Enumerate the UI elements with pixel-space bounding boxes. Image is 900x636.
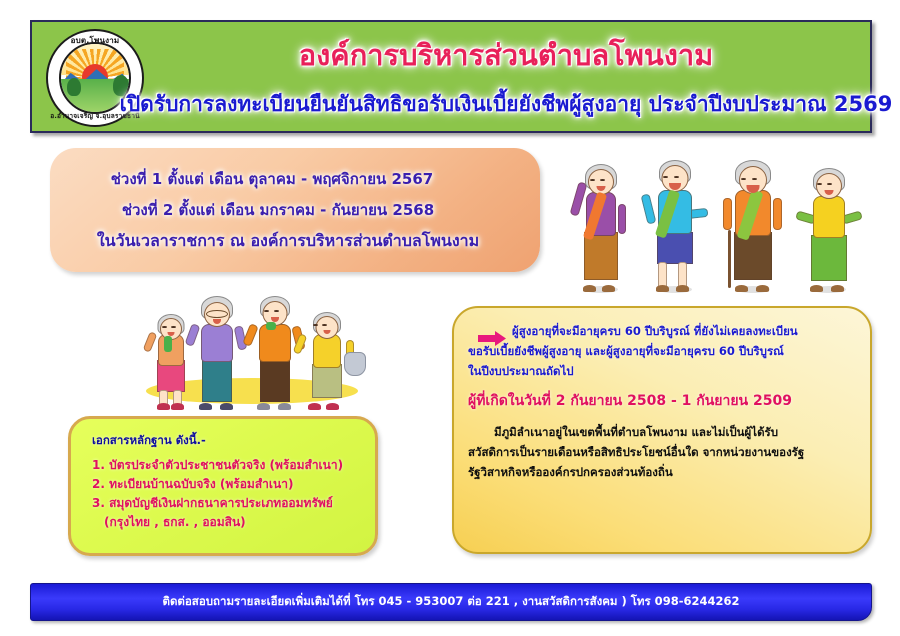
four-elderly-people-waving-illustration [134, 282, 370, 408]
figure-head [316, 316, 339, 339]
header-title-group: องค์การบริหารส่วนตำบลโพนงาม เปิดรับการลง… [152, 22, 860, 131]
figure-body [259, 324, 291, 362]
eligibility-line: มีภูมิลำเนาอยู่ในเขตพื้นที่ตำบลโพนงาม แล… [468, 422, 857, 442]
figure-shoe [831, 285, 844, 292]
figure-eye [274, 310, 279, 312]
contact-footer-text: ติดต่อสอบถามรายละเอียดเพิ่มเติมได้ที่ โท… [163, 593, 740, 611]
elderly-figure [188, 296, 246, 408]
figure-eye [162, 326, 167, 328]
elderly-figure [570, 162, 632, 290]
eligibility-line: ขอรับเบี้ยยังชีพผู้สูงอายุ และผู้สูงอายุ… [468, 342, 857, 362]
figure-skirt [811, 235, 847, 281]
figure-trousers [260, 358, 290, 402]
shopping-bag-icon [344, 352, 366, 376]
figure-arm [641, 193, 657, 224]
documents-item: 2. ทะเบียนบ้านฉบับจริง (พร้อมสำเนา) [92, 475, 365, 494]
documents-item-banks: (กรุงไทย , ธกส. , ออมสิน) [92, 513, 365, 532]
figure-shoe [602, 285, 615, 292]
period-location-line: ในวันเวลาราชการ ณ องค์การบริหารส่วนตำบลโ… [64, 229, 526, 254]
figure-eye [171, 326, 176, 328]
figure-eye [663, 176, 668, 178]
period-line-2: ช่วงที่ 2 ตั้งแต่ เดือน มกราคม - กันยายน… [64, 198, 526, 222]
figure-shoe [756, 285, 769, 292]
figure-eye [590, 179, 595, 181]
figure-shoe [278, 403, 291, 410]
figure-eye [674, 176, 679, 178]
right-arrow-icon [478, 331, 506, 346]
figure-eye [752, 178, 757, 180]
eligibility-line: สวัสดิการเป็นรายเดือนหรือสิทธิประโยชน์อื… [468, 442, 857, 462]
figure-shoe [656, 285, 669, 292]
figure-arm-waving [143, 331, 158, 353]
figure-eye [264, 310, 269, 312]
figure-shoe [171, 403, 184, 410]
figure-arm-raised [569, 181, 587, 216]
figure-collar [266, 322, 276, 330]
documents-item: 1. บัตรประจำตัวประชาชนตัวจริง (พร้อมสำเน… [92, 456, 365, 475]
seal-tree [67, 78, 81, 96]
eligibility-box: ผู้สูงอายุที่จะมีอายุครบ 60 ปีบริบูรณ์ ท… [452, 306, 872, 554]
figure-body [313, 334, 341, 368]
figure-trousers [202, 358, 232, 402]
figure-shoe [810, 285, 823, 292]
figure-head [816, 173, 842, 199]
figure-arm [618, 204, 626, 234]
figure-shoe [326, 403, 339, 410]
figure-shoe [583, 285, 596, 292]
figure-arm [723, 198, 732, 230]
header-banner: อบต.โพนงาม อ.อำนาจเจริญ จ.อุบลราชธานี อง… [30, 20, 872, 133]
elderly-figure [720, 160, 786, 290]
figure-eye [322, 324, 327, 326]
elderly-figure [640, 158, 710, 290]
figure-shoe [735, 285, 748, 292]
eligibility-paragraph-1: ผู้สูงอายุที่จะมีอายุครบ 60 ปีบริบูรณ์ ท… [468, 322, 857, 381]
figure-eye [600, 179, 605, 181]
figure-shoe [308, 403, 321, 410]
elderly-figure [296, 308, 358, 408]
figure-shoe [220, 403, 233, 410]
figure-eye [313, 324, 318, 326]
page-subtitle: เปิดรับการลงทะเบียนยืนยันสิทธิขอรับเงินเ… [120, 88, 893, 121]
figure-glasses-icon [206, 310, 228, 318]
figure-skirt [312, 364, 342, 398]
figure-shoe [199, 403, 212, 410]
documents-item: 3. สมุดบัญชีเงินฝากธนาคารประเภทออมทรัพย์ [92, 494, 365, 513]
figure-skirt [734, 232, 772, 280]
period-line-1: ช่วงที่ 1 ตั้งแต่ เดือน ตุลาคม - พฤศจิกา… [64, 167, 526, 191]
eligibility-line: รัฐวิสาหกิจหรือองค์กรปกครองส่วนท้องถิ่น [468, 462, 857, 482]
figure-collar [164, 336, 172, 352]
figure-shoe [676, 285, 689, 292]
figure-body [813, 196, 845, 238]
documents-title: เอกสารหลักฐาน ดังนี้.- [92, 432, 365, 450]
figure-shoe [257, 403, 270, 410]
four-elderly-people-illustration [564, 142, 868, 290]
eligibility-paragraph-2: มีภูมิลำเนาอยู่ในเขตพื้นที่ตำบลโพนงาม แล… [468, 422, 857, 482]
figure-body [201, 324, 233, 362]
required-documents-box: เอกสารหลักฐาน ดังนี้.- 1. บัตรประจำตัวปร… [68, 416, 378, 556]
figure-eye [817, 183, 822, 185]
eligibility-line: ในปีงบประมาณถัดไป [468, 362, 857, 382]
figure-eye [741, 178, 746, 180]
page-title: องค์การบริหารส่วนตำบลโพนงาม [299, 32, 714, 78]
birth-date-range: ผู้ที่เกิดในวันที่ 2 กันยายน 2508 - 1 กั… [468, 390, 857, 412]
figure-arm [773, 198, 782, 230]
figure-shoe [157, 403, 170, 410]
contact-footer-bar: ติดต่อสอบถามรายละเอียดเพิ่มเติมได้ที่ โท… [30, 583, 872, 621]
registration-period-box: ช่วงที่ 1 ตั้งแต่ เดือน ตุลาคม - พฤศจิกา… [50, 148, 540, 272]
elderly-figure [796, 164, 862, 290]
eligibility-line: ผู้สูงอายุที่จะมีอายุครบ 60 ปีบริบูรณ์ ท… [468, 322, 857, 342]
poster-canvas: อบต.โพนงาม อ.อำนาจเจริญ จ.อุบลราชธานี อง… [0, 0, 900, 636]
figure-cane [728, 230, 731, 288]
figure-eye [827, 183, 832, 185]
figure-head [588, 169, 614, 195]
